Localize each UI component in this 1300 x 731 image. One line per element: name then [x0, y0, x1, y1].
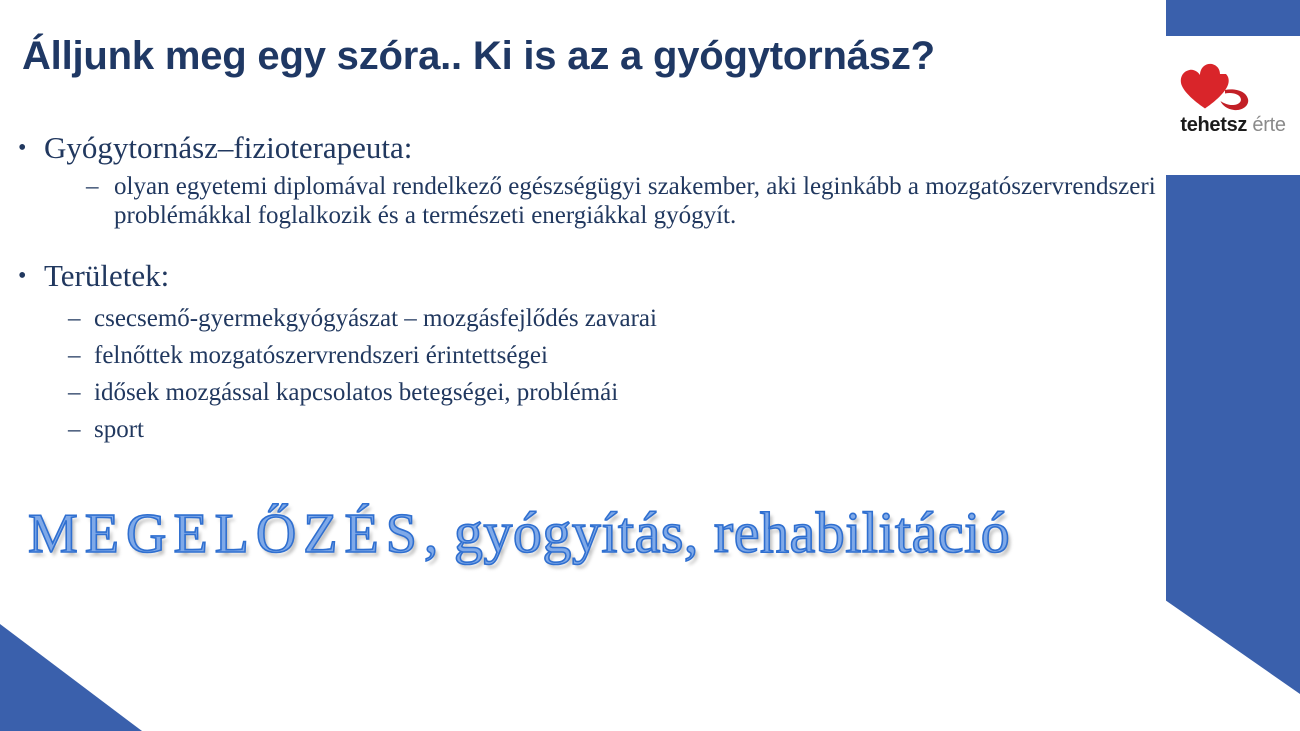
- wordart-rest: , gyógyítás, rehabilitáció: [424, 500, 1010, 565]
- bullet-marker: •: [18, 128, 26, 168]
- logo-word-bold: tehetsz: [1180, 114, 1247, 136]
- presentation-slide: tehetsz érte Álljunk meg egy szóra.. Ki …: [0, 0, 1300, 731]
- bullet-level2: – felnőttek mozgatószervrendszeri érinte…: [0, 337, 1160, 374]
- bullet-level2-text: felnőttek mozgatószervrendszeri érintett…: [94, 342, 548, 369]
- bullet-marker: •: [18, 256, 26, 296]
- slide-title: Álljunk meg egy szóra.. Ki is az a gyógy…: [22, 32, 1142, 80]
- content-block-2: • Területek: – csecsemő-gyermekgyógyásza…: [0, 256, 1160, 448]
- bullet-level2: – idősek mozgással kapcsolatos betegsége…: [0, 374, 1160, 411]
- bullet-level1: • Gyógytornász–fizioterapeuta:: [0, 128, 1160, 168]
- dash-marker: –: [68, 374, 81, 411]
- block-spacer: [0, 230, 1160, 256]
- heart-icon: [1168, 60, 1298, 118]
- slide-body: • Gyógytornász–fizioterapeuta: – olyan e…: [0, 128, 1160, 448]
- wordart-emphasis: MEGELŐZÉS: [28, 503, 424, 565]
- logo-word-light: érte: [1252, 114, 1285, 136]
- bullet-level1: • Területek:: [0, 256, 1160, 296]
- bullet-level2-text: csecsemő-gyermekgyógyászat – mozgásfejlő…: [94, 305, 657, 332]
- decor-right-blue-banner: [1166, 175, 1300, 694]
- bullet-level2: – olyan egyetemi diplomával rendelkező e…: [0, 172, 1160, 230]
- dash-marker: –: [68, 337, 81, 374]
- bullet-level2-text: olyan egyetemi diplomával rendelkező egé…: [114, 173, 1156, 229]
- logo: tehetsz érte: [1168, 60, 1298, 148]
- bullet-level2-text: sport: [94, 416, 144, 443]
- logo-wordmark: tehetsz érte: [1168, 114, 1298, 137]
- bullet-level1-text: Gyógytornász–fizioterapeuta:: [44, 130, 412, 165]
- content-block-1: • Gyógytornász–fizioterapeuta: – olyan e…: [0, 128, 1160, 230]
- bullet-level2-text: idősek mozgással kapcsolatos betegségei,…: [94, 379, 618, 406]
- bullet-level2: – csecsemő-gyermekgyógyászat – mozgásfej…: [0, 300, 1160, 337]
- wordart-banner: MEGELŐZÉS, gyógyítás, rehabilitáció: [28, 498, 1158, 570]
- bullet-level2: – sport: [0, 411, 1160, 448]
- dash-marker: –: [68, 411, 81, 448]
- decor-top-blue-band: [1166, 0, 1300, 36]
- dash-marker: –: [86, 172, 99, 201]
- dash-marker: –: [68, 300, 81, 337]
- decor-bottom-left-triangle: [0, 624, 142, 731]
- bullet-level1-text: Területek:: [44, 258, 169, 293]
